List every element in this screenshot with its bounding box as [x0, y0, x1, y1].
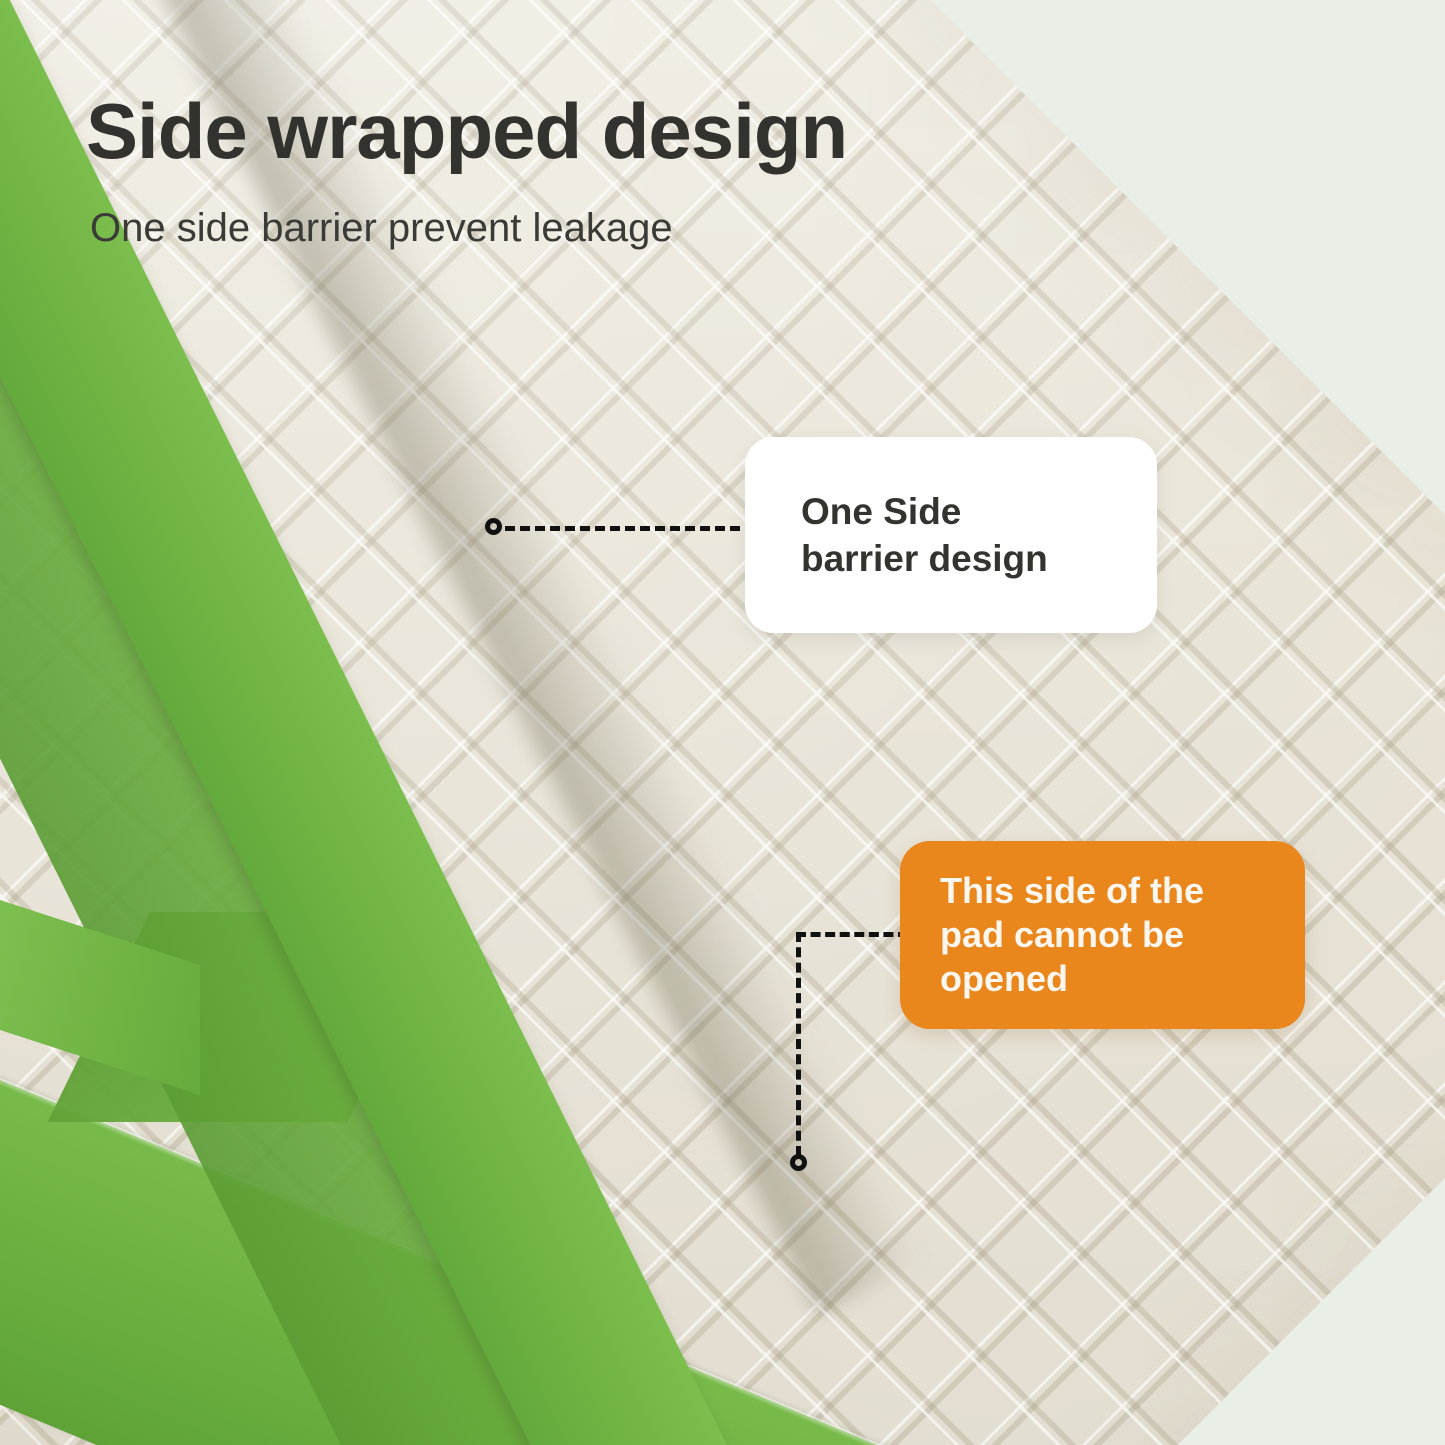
page-subtitle: One side barrier prevent leakage	[90, 208, 673, 248]
callout-one-side-barrier[interactable]: One Side barrier design	[745, 437, 1157, 633]
callout-side-cannot-be-opened[interactable]: This side of the pad cannot be opened	[900, 841, 1305, 1029]
white-callout-dashed-line	[505, 526, 755, 531]
callout-orange-line-1: This side of the	[940, 869, 1305, 913]
infographic-canvas: Side wrapped design One side barrier pre…	[0, 0, 1445, 1445]
orange-callout-anchor-marker	[790, 1154, 807, 1171]
orange-callout-dashed-vertical	[796, 932, 801, 1156]
callout-white-line-2: barrier design	[801, 535, 1157, 582]
callout-orange-line-3: opened	[940, 957, 1305, 1001]
orange-callout-dashed-horizontal	[796, 932, 908, 937]
callout-white-line-1: One Side	[801, 488, 1157, 535]
page-title: Side wrapped design	[86, 92, 847, 170]
callout-orange-line-2: pad cannot be	[940, 913, 1305, 957]
white-callout-anchor-marker	[485, 518, 502, 535]
